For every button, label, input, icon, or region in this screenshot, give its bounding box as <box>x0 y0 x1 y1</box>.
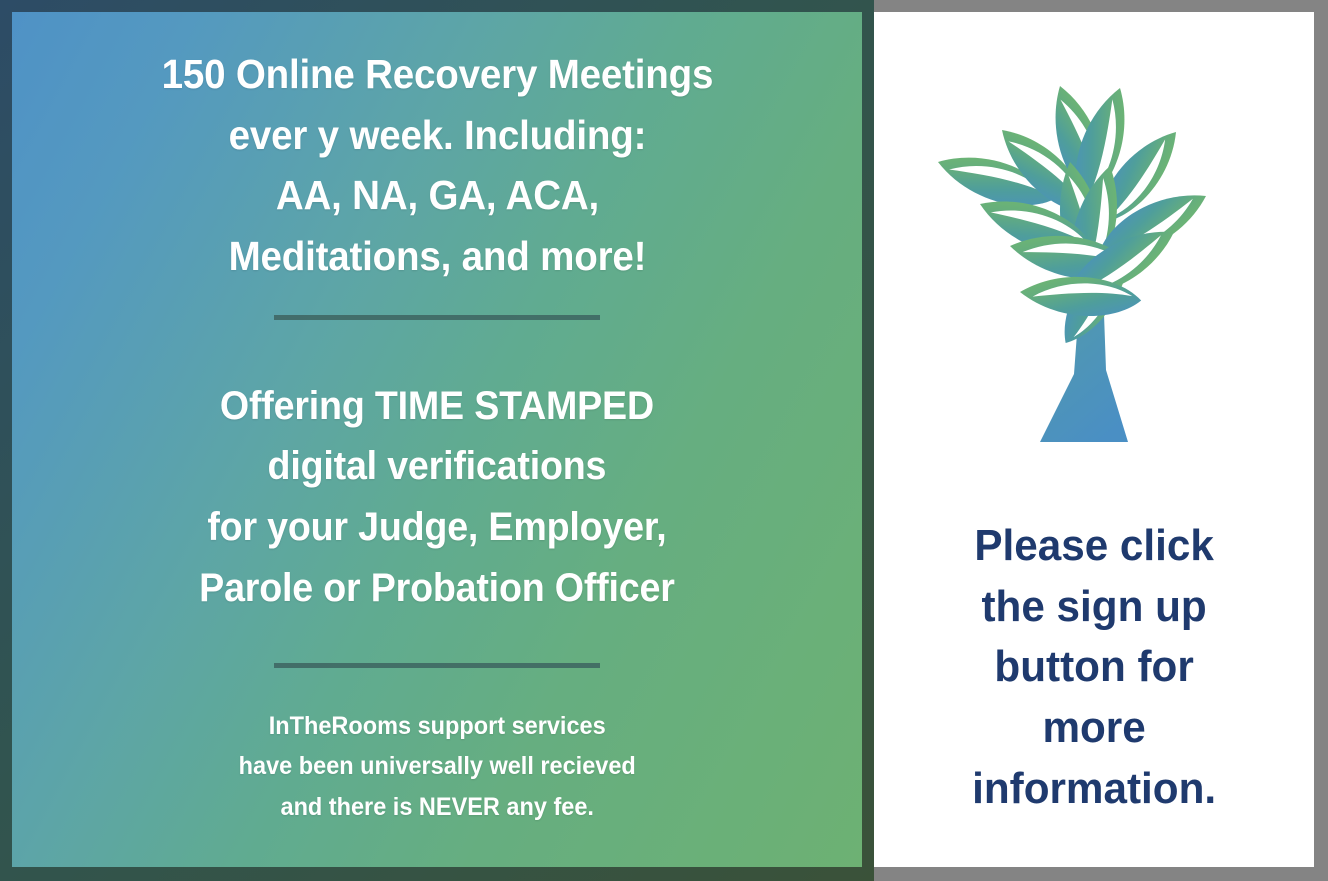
footnote-text: InTheRooms support services have been un… <box>238 706 635 828</box>
left-panel-content: 150 Online Recovery Meetings ever y week… <box>12 12 862 867</box>
right-panel-content: Please click the sign up button for more… <box>874 12 1314 867</box>
promo-card: 150 Online Recovery Meetings ever y week… <box>0 0 1328 881</box>
divider-top <box>274 315 600 320</box>
divider-bottom <box>274 663 600 668</box>
left-gradient-panel: 150 Online Recovery Meetings ever y week… <box>0 0 874 881</box>
headline-secondary: Offering TIME STAMPED digital verificati… <box>199 376 674 619</box>
call-to-action-text: Please click the sign up button for more… <box>972 516 1216 820</box>
right-white-panel: Please click the sign up button for more… <box>874 0 1328 881</box>
tree-logo-icon <box>924 70 1264 470</box>
headline-primary: 150 Online Recovery Meetings ever y week… <box>161 44 713 287</box>
